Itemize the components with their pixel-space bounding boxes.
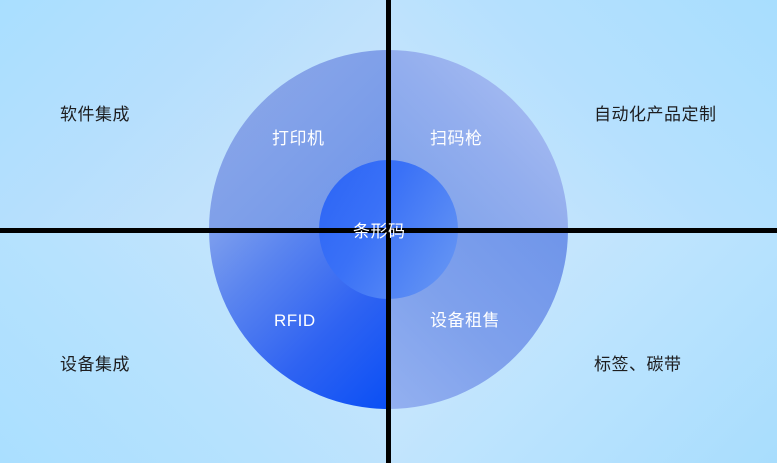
label-barcode: 条形码	[353, 223, 406, 240]
label-scanner: 扫码枪	[430, 130, 483, 147]
label-labels-ribbons: 标签、碳带	[594, 356, 682, 373]
label-equipment-rental: 设备租售	[430, 312, 500, 329]
label-software-integration: 软件集成	[60, 106, 130, 123]
label-rfid: RFID	[274, 312, 316, 329]
label-automation-customization: 自动化产品定制	[594, 106, 717, 123]
diagram-canvas: 软件集成 自动化产品定制 设备集成 标签、碳带 打印机 扫码枪 RFID 设备租…	[0, 0, 777, 463]
label-printer: 打印机	[272, 130, 325, 147]
label-device-integration: 设备集成	[60, 356, 130, 373]
